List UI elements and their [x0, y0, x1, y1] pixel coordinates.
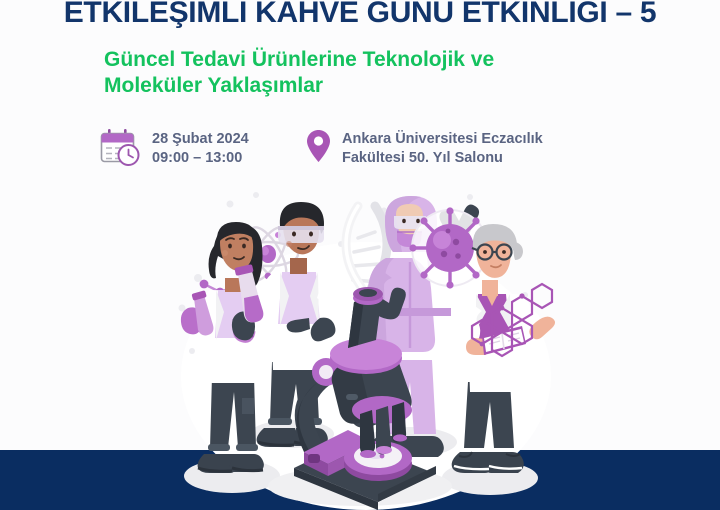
event-poster: ETKİLEŞİMLİ KAHVE GÜNÜ ETKİNLİĞİ – 5 Gün…	[0, 0, 720, 510]
map-pin-icon	[306, 129, 331, 168]
event-date-line-1: 28 Şubat 2024	[152, 131, 249, 147]
event-location-block: Ankara Üniversitesi Eczacılık Fakültesi …	[306, 126, 543, 168]
event-location-text: Ankara Üniversitesi Eczacılık Fakültesi …	[342, 130, 543, 168]
event-time-line: 09:00 – 13:00	[152, 150, 242, 166]
event-meta-row: 28 Şubat 2024 09:00 – 13:00 Ankara Ünive…	[100, 126, 543, 172]
event-date-block: 28 Şubat 2024 09:00 – 13:00	[100, 126, 306, 172]
laboratory-scientists-illustration	[170, 186, 556, 510]
subtitle-line-2: Moleküler Yaklaşımlar	[104, 73, 664, 99]
page-subtitle: Güncel Tedavi Ürünlerine Teknolojik ve M…	[104, 47, 664, 99]
calendar-clock-icon	[100, 129, 142, 172]
event-location-line-2: Fakültesi 50. Yıl Salonu	[342, 150, 503, 166]
event-date-text: 28 Şubat 2024 09:00 – 13:00	[152, 130, 249, 168]
page-title: ETKİLEŞİMLİ KAHVE GÜNÜ ETKİNLİĞİ – 5	[0, 0, 720, 32]
event-location-line-1: Ankara Üniversitesi Eczacılık	[342, 131, 543, 147]
subtitle-line-1: Güncel Tedavi Ürünlerine Teknolojik ve	[104, 47, 664, 73]
